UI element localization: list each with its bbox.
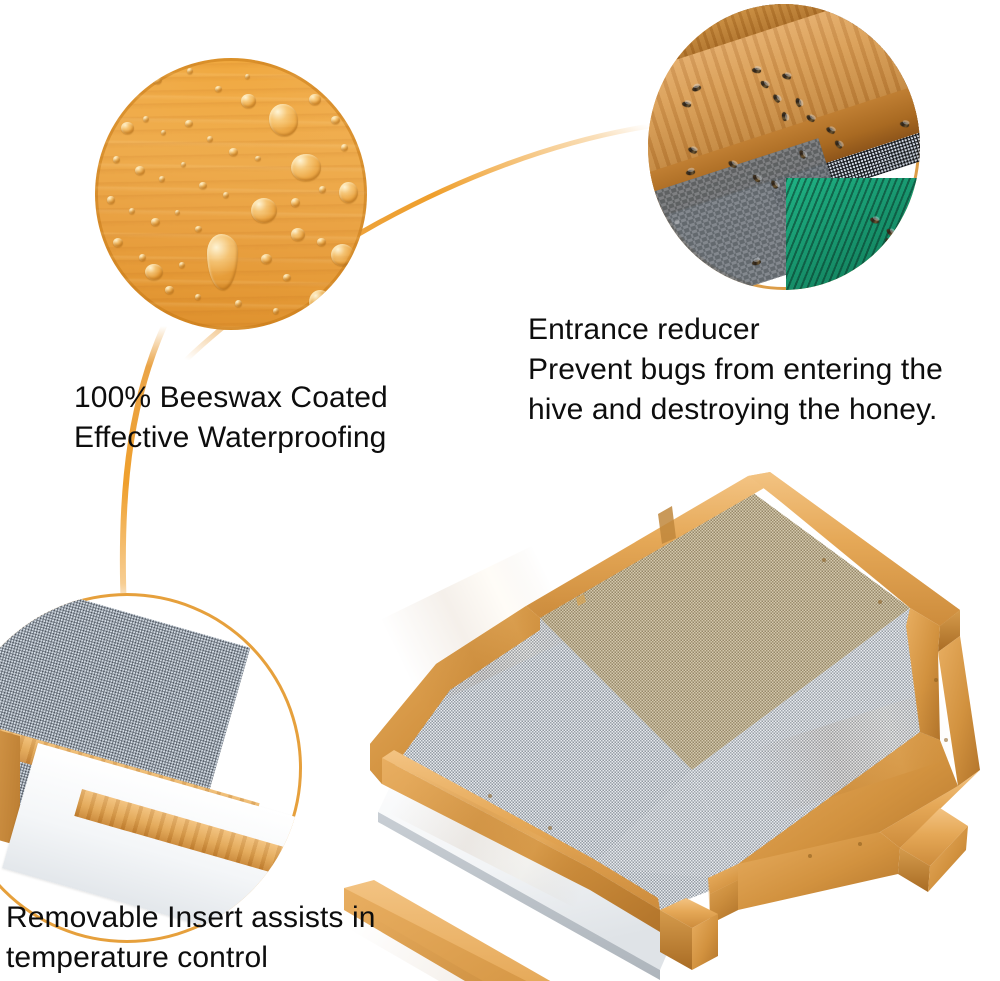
callout-entrance-reducer-image xyxy=(648,4,920,290)
caption-entrance-reducer: Entrance reducer Prevent bugs from enter… xyxy=(528,310,998,430)
callout-removable-insert-image xyxy=(0,593,302,943)
connector-beeswax-to-insert xyxy=(80,320,220,620)
hive-entrance-scene xyxy=(648,4,920,290)
water-droplets xyxy=(95,58,367,330)
grass-ground xyxy=(786,178,920,290)
product-infographic: 100% Beeswax Coated Effective Waterproof… xyxy=(0,0,1000,981)
callout-beeswax-waterproofing-image xyxy=(95,58,367,330)
caption-beeswax-waterproofing: 100% Beeswax Coated Effective Waterproof… xyxy=(74,378,494,458)
wooden-legs xyxy=(660,898,718,970)
bee xyxy=(781,112,787,122)
caption-removable-insert: Removable Insert assists in temperature … xyxy=(6,898,456,978)
